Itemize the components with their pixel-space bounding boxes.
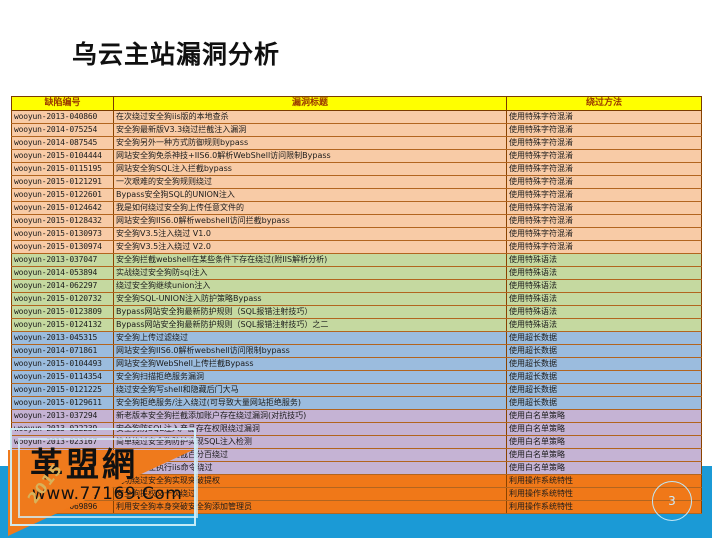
cell-bypass-method: 使用白名单策略: [507, 410, 702, 423]
column-header-method: 绕过方法: [507, 97, 702, 111]
table-row: wooyun-2014-049356新版安全狗上传拦截百分百绕过使用白名单策略: [12, 449, 702, 462]
cell-bypass-method: 使用特殊语法: [507, 319, 702, 332]
cell-vuln-id: wooyun-2015-0113077: [12, 462, 114, 475]
table-row: wooyun-2015-0129611安全狗拒绝服务/注入绕过(可导致大量网站拒…: [12, 397, 702, 410]
table-row: wooyun-2013-022239安全狗防SQL注入产品存在权限绕过漏洞使用白…: [12, 423, 702, 436]
cell-bypass-method: 使用特殊字符混淆: [507, 150, 702, 163]
table-row: wooyun-2015-0104493网站安全狗WebShell上传拦截Bypa…: [12, 358, 702, 371]
cell-vuln-id: wooyun-2014-049356: [12, 449, 114, 462]
table-body: wooyun-2013-040860在次绕过安全狗iis版的本地查杀使用特殊字符…: [12, 111, 702, 514]
table-row: wooyun-2015-0123809Bypass网站安全狗最新防护规则（SQL…: [12, 306, 702, 319]
cell-vuln-id: wooyun-2013-023167: [12, 436, 114, 449]
cell-bypass-method: 使用特殊字符混淆: [507, 137, 702, 150]
cell-vuln-title: Bypass安全狗SQL的UNION注入: [114, 189, 507, 202]
table-row: wooyun-2013-023167简单绕过安全狗防护实现SQL注入检测使用白名…: [12, 436, 702, 449]
table-row: wooyun-2015-0104444网站安全狗免杀神技+IIS6.0解析Web…: [12, 150, 702, 163]
cell-vuln-title: 安全狗拦截webshell在某些条件下存在绕过(附IIS解析分析): [114, 254, 507, 267]
cell-bypass-method: 使用特殊字符混淆: [507, 241, 702, 254]
cell-vuln-id: wooyun-2015-0124132: [12, 319, 114, 332]
cell-bypass-method: 使用白名单策略: [507, 436, 702, 449]
cell-vuln-id: wooyun-2013-040860: [12, 111, 114, 124]
cell-vuln-title: 绕过安全狗继续union注入: [114, 280, 507, 293]
cell-bypass-method: 使用特殊语法: [507, 267, 702, 280]
cell-vuln-id: wooyun-2013-037294: [12, 410, 114, 423]
cell-vuln-title: 一次艰难的安全狗规则绕过: [114, 176, 507, 189]
cell-vuln-id: wooyun-2013-022239: [12, 423, 114, 436]
cell-bypass-method: 使用超长数据: [507, 371, 702, 384]
table-row: wooyun-2015-0120732安全狗SQL-UNION注入防护策略Byp…: [12, 293, 702, 306]
cell-vuln-id: wooyun-2014-087545: [12, 137, 114, 150]
cell-bypass-method: 使用特殊语法: [507, 306, 702, 319]
table-row: wooyun-2015-0113077安全狗禁止执行iis命令绕过使用白名单策略: [12, 462, 702, 475]
cell-vuln-title: 简单绕过安全狗防护实现SQL注入检测: [114, 436, 507, 449]
cell-vuln-id: wooyun-2015-0120732: [12, 293, 114, 306]
cell-vuln-title: 网站安全狗IIS6.0解析webshell访问限制bypass: [114, 345, 507, 358]
cell-vuln-title: Bypass网站安全狗最新防护规则（SQL报错注射技巧）之二: [114, 319, 507, 332]
cell-vuln-id: wooyun-2015-0124642: [12, 202, 114, 215]
cell-bypass-method: 使用特殊字符混淆: [507, 228, 702, 241]
cell-vuln-title: 安全狗防SQL注入产品存在权限绕过漏洞: [114, 423, 507, 436]
table-row: wooyun-2015-0115195网站安全狗SQL注入拦截bypass使用特…: [12, 163, 702, 176]
table-row: wooyun-2014-087545安全狗另外一种方式防御规则bypass使用特…: [12, 137, 702, 150]
cell-vuln-id: wooyun-2014-053894: [12, 267, 114, 280]
cell-vuln-title: 网站安全狗免杀神技+IIS6.0解析WebShell访问限制Bypass: [114, 150, 507, 163]
cell-vuln-title: 安全狗拒绝服务/注入绕过(可导致大量网站拒绝服务): [114, 397, 507, 410]
cell-bypass-method: 使用特殊语法: [507, 254, 702, 267]
cell-vuln-id: wooyun-2015-0121225: [12, 384, 114, 397]
cell-vuln-id: wooyun-2015-0104444: [12, 150, 114, 163]
cell-vuln-title: 实战绕过安全狗防sql注入: [114, 267, 507, 280]
page-number-badge: 3: [652, 481, 692, 521]
table-row: wooyun-2013-045315安全狗上传过滤绕过使用超长数据: [12, 332, 702, 345]
table-row: wooyun-2013-040860在次绕过安全狗iis版的本地查杀使用特殊字符…: [12, 111, 702, 124]
cell-vuln-title: 安全狗禁止执行iis命令绕过: [114, 462, 507, 475]
cell-vuln-id: wooyun-2015-0130974: [12, 241, 114, 254]
cell-bypass-method: 使用超长数据: [507, 332, 702, 345]
cell-bypass-method: 使用超长数据: [507, 397, 702, 410]
cell-vuln-id: wooyun-2016-069896: [12, 501, 114, 514]
vulnerability-table-container: 缺陷编号 漏洞标题 绕过方法 wooyun-2013-040860在次绕过安全狗…: [11, 96, 701, 514]
table-row: wooyun-2014-062297绕过安全狗继续union注入使用特殊语法: [12, 280, 702, 293]
cell-vuln-id: wooyun-2015-0114354: [12, 371, 114, 384]
cell-vuln-id: wooyun-2015-0121291: [12, 176, 114, 189]
cell-bypass-method: 使用特殊字符混淆: [507, 163, 702, 176]
cell-bypass-method: 使用白名单策略: [507, 449, 702, 462]
cell-vuln-title: 我是如何绕过安全狗上传任意文件的: [114, 202, 507, 215]
table-row: wooyun-2015-0130974安全狗V3.5注入绕过 V2.0使用特殊字…: [12, 241, 702, 254]
table-row: wooyun-2015-0128432网站安全狗IIS6.0解析webshell…: [12, 215, 702, 228]
cell-vuln-title: 绕过安全狗写shell和隐藏后门大马: [114, 384, 507, 397]
cell-vuln-title: 网站安全狗SQL注入拦截bypass: [114, 163, 507, 176]
cell-vuln-id: wooyun-2015-0123809: [12, 306, 114, 319]
cell-vuln-id: wooyun-2014-075254: [12, 124, 114, 137]
slide-canvas: 乌云主站漏洞分析 缺陷编号 漏洞标题 绕过方法 wooyun-2013-0408…: [0, 0, 712, 538]
cell-vuln-title: 安全狗扫描拒绝服务漏洞: [114, 371, 507, 384]
cell-vuln-id: wooyun-2013-037047: [12, 254, 114, 267]
cell-bypass-method: 使用超长数据: [507, 358, 702, 371]
table-row: wooyun-2013-027749安全狗提权又一次绕过利用操作系统特性: [12, 488, 702, 501]
cell-bypass-method: 使用特殊字符混淆: [507, 215, 702, 228]
cell-vuln-title: Bypass网站安全狗最新防护规则（SQL报错注射技巧）: [114, 306, 507, 319]
cell-vuln-id: wooyun-2015-0104493: [12, 358, 114, 371]
table-row: wooyun-2013-037294新老版本安全狗拦截添加账户存在绕过漏洞(对抗…: [12, 410, 702, 423]
cell-vuln-title: 新版安全狗上传拦截百分百绕过: [114, 449, 507, 462]
table-row: wooyun-2014-071861网站安全狗IIS6.0解析webshell访…: [12, 345, 702, 358]
cell-vuln-title: 网站安全狗WebShell上传拦截Bypass: [114, 358, 507, 371]
cell-vuln-id: wooyun-2014-071861: [12, 345, 114, 358]
cell-vuln-id: wooyun-2015-0128432: [12, 215, 114, 228]
cell-vuln-id: wooyun-2013-045315: [12, 332, 114, 345]
table-row: wooyun-2015-0109615成功绕过安全狗实现突破提权利用操作系统特性: [12, 475, 702, 488]
cell-bypass-method: 使用白名单策略: [507, 462, 702, 475]
cell-bypass-method: 使用超长数据: [507, 384, 702, 397]
table-row: wooyun-2016-069896利用安全狗本身突破安全狗添加管理员利用操作系…: [12, 501, 702, 514]
page-title: 乌云主站漏洞分析: [72, 40, 280, 70]
cell-vuln-title: 安全狗V3.5注入绕过 V1.0: [114, 228, 507, 241]
cell-bypass-method: 使用特殊字符混淆: [507, 111, 702, 124]
cell-vuln-id: wooyun-2015-0122601: [12, 189, 114, 202]
table-header-row: 缺陷编号 漏洞标题 绕过方法: [12, 97, 702, 111]
cell-vuln-id: wooyun-2015-0115195: [12, 163, 114, 176]
cell-vuln-title: 安全狗最新版V3.3绕过拦截注入漏洞: [114, 124, 507, 137]
cell-vuln-id: wooyun-2014-062297: [12, 280, 114, 293]
table-row: wooyun-2014-075254安全狗最新版V3.3绕过拦截注入漏洞使用特殊…: [12, 124, 702, 137]
cell-bypass-method: 使用特殊语法: [507, 293, 702, 306]
cell-bypass-method: 使用特殊字符混淆: [507, 202, 702, 215]
cell-vuln-title: 安全狗上传过滤绕过: [114, 332, 507, 345]
column-header-id: 缺陷编号: [12, 97, 114, 111]
cell-vuln-title: 在次绕过安全狗iis版的本地查杀: [114, 111, 507, 124]
column-header-title: 漏洞标题: [114, 97, 507, 111]
cell-vuln-title: 安全狗V3.5注入绕过 V2.0: [114, 241, 507, 254]
table-row: wooyun-2014-053894实战绕过安全狗防sql注入使用特殊语法: [12, 267, 702, 280]
cell-vuln-title: 新老版本安全狗拦截添加账户存在绕过漏洞(对抗技巧): [114, 410, 507, 423]
cell-vuln-title: 网站安全狗IIS6.0解析webshell访问拦截bypass: [114, 215, 507, 228]
cell-bypass-method: 使用特殊字符混淆: [507, 176, 702, 189]
vulnerability-table: 缺陷编号 漏洞标题 绕过方法 wooyun-2013-040860在次绕过安全狗…: [11, 96, 702, 514]
table-row: wooyun-2013-037047安全狗拦截webshell在某些条件下存在绕…: [12, 254, 702, 267]
table-row: wooyun-2015-0121291一次艰难的安全狗规则绕过使用特殊字符混淆: [12, 176, 702, 189]
cell-bypass-method: 使用特殊语法: [507, 280, 702, 293]
cell-bypass-method: 使用特殊字符混淆: [507, 124, 702, 137]
cell-bypass-method: 使用超长数据: [507, 345, 702, 358]
table-row: wooyun-2015-0130973安全狗V3.5注入绕过 V1.0使用特殊字…: [12, 228, 702, 241]
table-row: wooyun-2015-0122601Bypass安全狗SQL的UNION注入使…: [12, 189, 702, 202]
table-row: wooyun-2015-0124642我是如何绕过安全狗上传任意文件的使用特殊字…: [12, 202, 702, 215]
table-row: wooyun-2015-0124132Bypass网站安全狗最新防护规则（SQL…: [12, 319, 702, 332]
cell-vuln-title: 安全狗SQL-UNION注入防护策略Bypass: [114, 293, 507, 306]
cell-vuln-id: wooyun-2015-0129611: [12, 397, 114, 410]
cell-vuln-id: wooyun-2013-027749: [12, 488, 114, 501]
table-row: wooyun-2015-0114354安全狗扫描拒绝服务漏洞使用超长数据: [12, 371, 702, 384]
cell-vuln-title: 利用安全狗本身突破安全狗添加管理员: [114, 501, 507, 514]
cell-vuln-title: 成功绕过安全狗实现突破提权: [114, 475, 507, 488]
table-row: wooyun-2015-0121225绕过安全狗写shell和隐藏后门大马使用超…: [12, 384, 702, 397]
cell-bypass-method: 使用白名单策略: [507, 423, 702, 436]
cell-vuln-id: wooyun-2015-0130973: [12, 228, 114, 241]
cell-vuln-title: 安全狗提权又一次绕过: [114, 488, 507, 501]
cell-vuln-title: 安全狗另外一种方式防御规则bypass: [114, 137, 507, 150]
cell-vuln-id: wooyun-2015-0109615: [12, 475, 114, 488]
cell-bypass-method: 使用特殊字符混淆: [507, 189, 702, 202]
